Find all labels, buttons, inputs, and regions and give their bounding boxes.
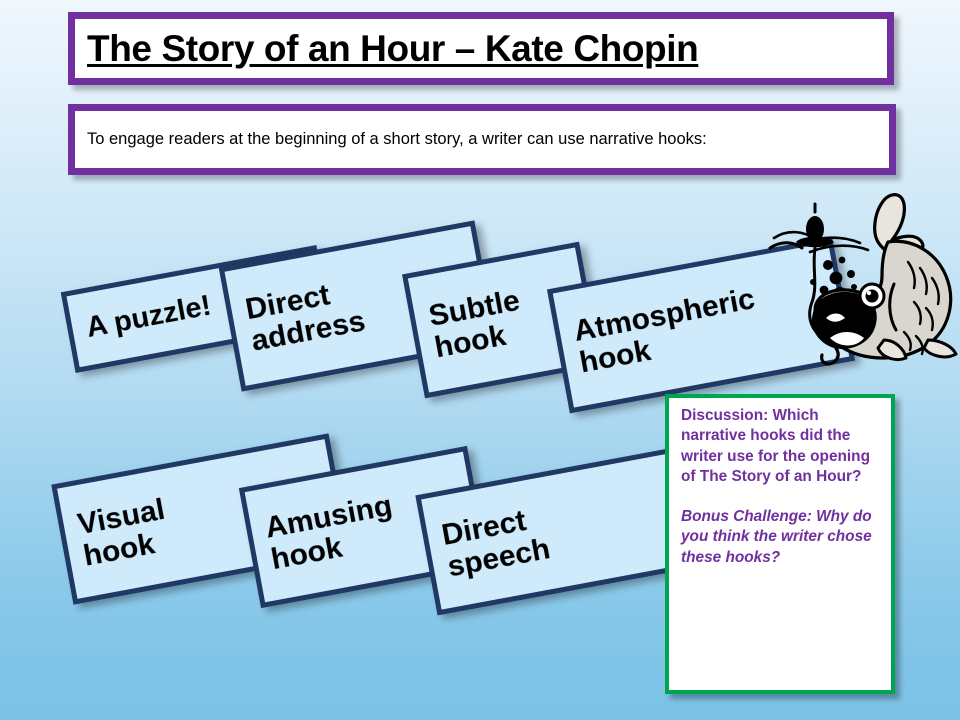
hook-label: Atmospheric hook <box>557 283 763 382</box>
discussion-bonus-challenge: Bonus Challenge: Why do you think the wr… <box>681 507 881 568</box>
subtitle-text: To engage readers at the beginning of a … <box>75 130 707 149</box>
page-title: The Story of an Hour – Kate Chopin <box>75 28 698 70</box>
title-box: The Story of an Hour – Kate Chopin <box>68 12 894 85</box>
bobber <box>796 204 834 247</box>
discussion-question: Discussion: Which narrative hooks did th… <box>681 406 881 488</box>
fish-biting-hook-icon <box>768 190 960 376</box>
subtitle-box: To engage readers at the beginning of a … <box>68 104 896 175</box>
hook-label: Direct speech <box>425 502 552 587</box>
hook-label: Subtle hook <box>413 285 529 367</box>
hook-label: Direct address <box>229 274 368 361</box>
hook-label: A puzzle! <box>70 291 214 347</box>
slide-canvas: The Story of an Hour – Kate Chopin To en… <box>0 0 960 720</box>
discussion-box: Discussion: Which narrative hooks did th… <box>665 394 895 694</box>
hook-label: Amusing hook <box>249 490 401 579</box>
hook-label: Visual hook <box>61 494 173 576</box>
